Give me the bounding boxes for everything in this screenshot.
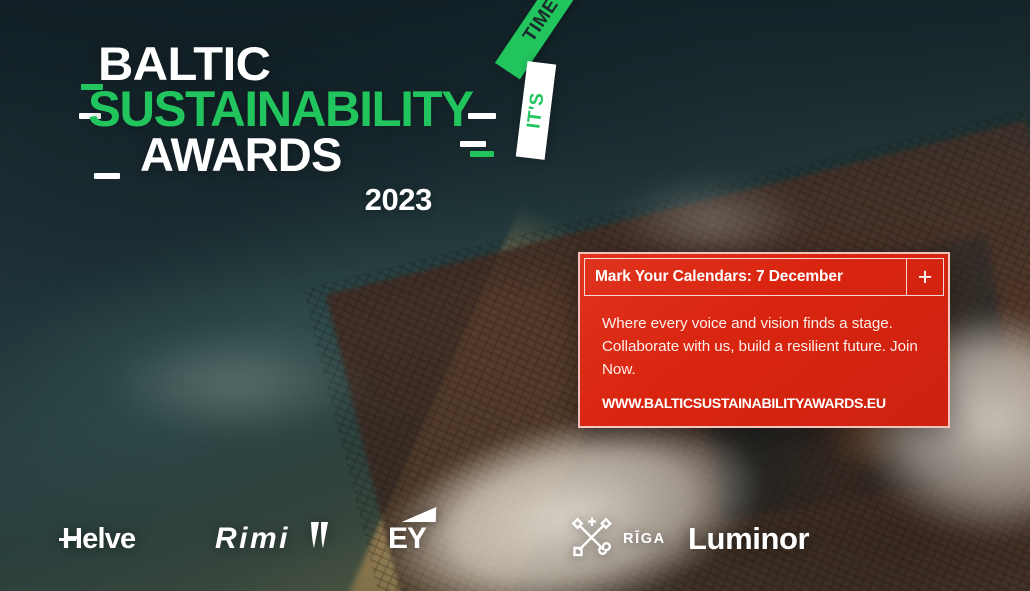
event-logo-lockup: BALTIC SUSTAINABILITY AWARDS 2023 bbox=[88, 42, 488, 218]
sponsor-riga[interactable]: RĪGA bbox=[570, 516, 666, 563]
helve-crossbar-icon bbox=[59, 538, 76, 542]
rimi-wordmark: Rimi bbox=[215, 520, 331, 558]
logo-word-sustainability: SUSTAINABILITY bbox=[88, 86, 473, 132]
logo-slash-a bbox=[94, 173, 120, 179]
helve-wordmark: Helve bbox=[62, 523, 135, 556]
logo-line-awards: AWARDS bbox=[140, 133, 488, 176]
ey-wordmark: EY bbox=[388, 522, 426, 556]
riga-label: RĪGA bbox=[623, 531, 666, 547]
logo-word-awards: AWARDS bbox=[140, 133, 342, 176]
sponsor-rimi[interactable]: Rimi bbox=[215, 520, 331, 558]
its-time-badge: TIME IT'S bbox=[476, 52, 596, 187]
riga-crossed-keys-icon bbox=[570, 516, 614, 563]
poster-canvas: BALTIC SUSTAINABILITY AWARDS 2023 TIME I… bbox=[0, 0, 1030, 591]
luminor-wordmark: Luminor bbox=[688, 521, 809, 557]
sponsor-ey[interactable]: EY bbox=[388, 522, 426, 556]
logo-year: 2023 bbox=[88, 182, 488, 218]
rimi-swoosh-icon bbox=[305, 520, 331, 558]
announcement-title: Mark Your Calendars: 7 December bbox=[584, 258, 906, 296]
website-url-link[interactable]: WWW.BALTICSUSTAINABILITYAWARDS.EU bbox=[580, 396, 948, 426]
sponsor-helve[interactable]: Helve bbox=[62, 523, 135, 556]
expand-plus-button[interactable]: + bbox=[906, 258, 944, 296]
announcement-body-text: Where every voice and vision finds a sta… bbox=[580, 296, 948, 396]
sponsor-luminor[interactable]: Luminor bbox=[688, 521, 809, 557]
logo-word-baltic: BALTIC bbox=[98, 42, 270, 85]
ey-label: EY bbox=[388, 522, 426, 555]
ey-beam-icon bbox=[402, 507, 437, 522]
announcement-card-header: Mark Your Calendars: 7 December + bbox=[584, 258, 944, 296]
logo-line-sustainability: SUSTAINABILITY bbox=[88, 86, 488, 132]
logo-line-baltic: BALTIC bbox=[98, 42, 488, 85]
announcement-card: Mark Your Calendars: 7 December + Where … bbox=[578, 252, 950, 428]
rimi-label: Rimi bbox=[215, 522, 290, 555]
sponsor-logo-row: Helve Rimi EY bbox=[0, 513, 1030, 565]
